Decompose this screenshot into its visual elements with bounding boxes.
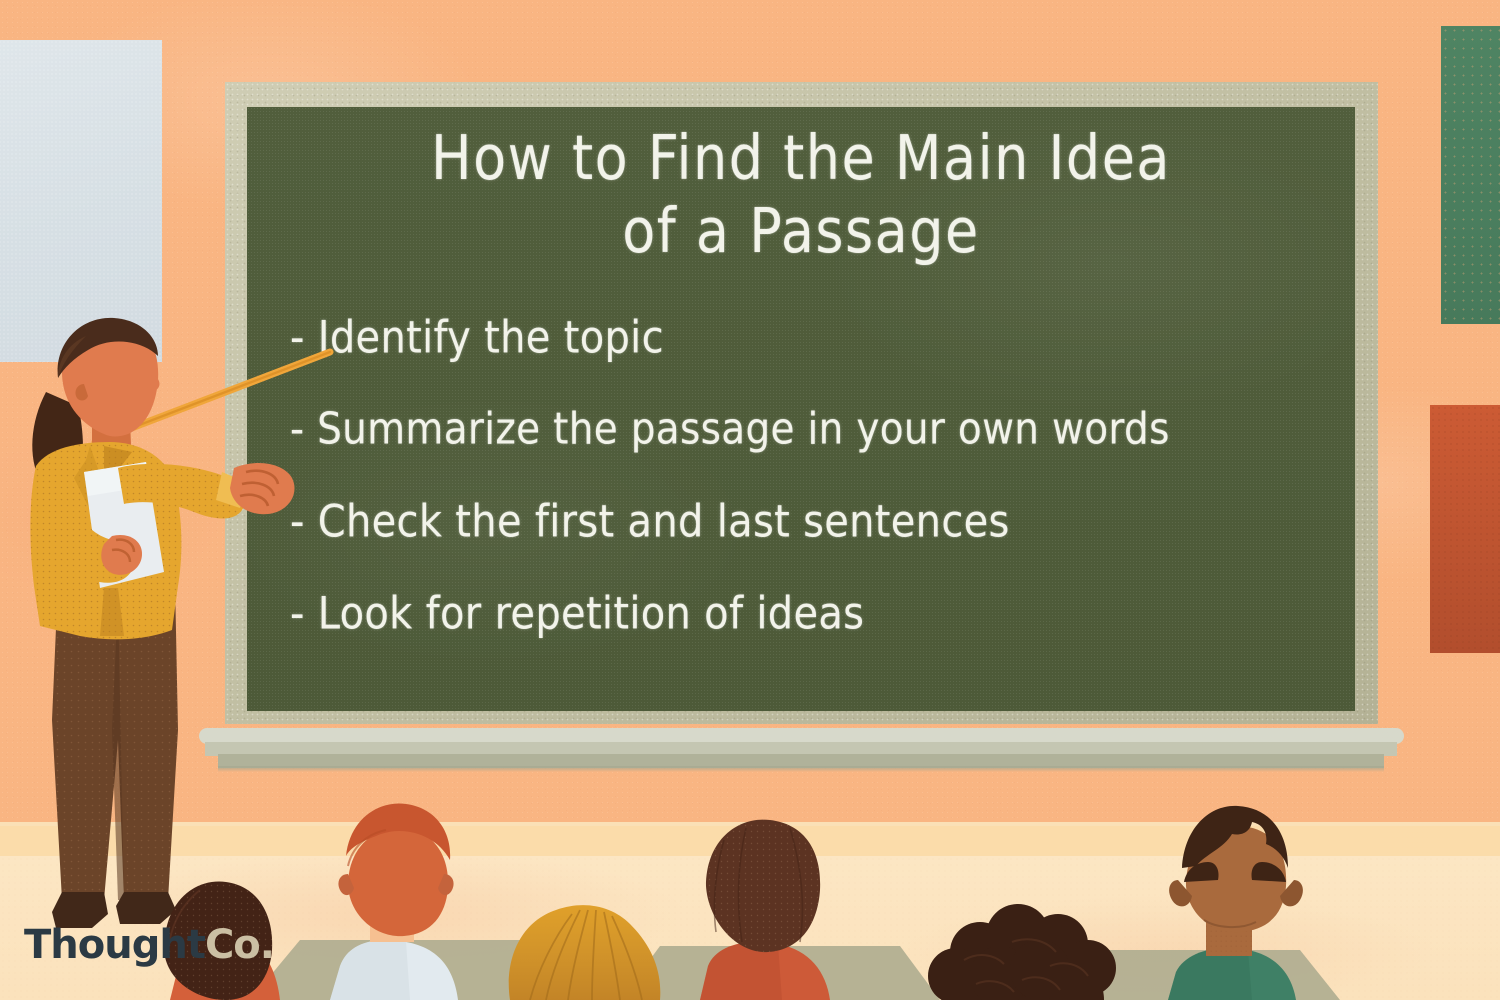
chalkboard-title: How to Find the Main Idea of a Passage (247, 122, 1355, 268)
chalkboard-bullet-list: - Identify the topic - Summarize the pas… (290, 316, 1360, 684)
logo-thought: Thought (24, 922, 205, 968)
chalkboard-title-line-1: How to Find the Main Idea (247, 122, 1355, 195)
chalkboard-bullet-2: - Summarize the passage in your own word… (290, 405, 1360, 454)
chalkboard-bullet-4: - Look for repetition of ideas (290, 589, 1360, 638)
student-5 (928, 904, 1116, 1000)
thoughtco-logo: ThoughtCo. (24, 922, 274, 968)
chalkboard-bullet-3: - Check the first and last sentences (290, 497, 1360, 546)
poster-green (1441, 26, 1500, 324)
student-6 (1168, 806, 1303, 1000)
chalkboard-title-line-2: of a Passage (247, 195, 1355, 268)
chalkboard-bullet-1: - Identify the topic (290, 313, 1360, 362)
poster-red (1430, 405, 1500, 653)
classroom-illustration: How to Find the Main Idea of a Passage -… (0, 0, 1500, 1000)
student-3 (509, 905, 661, 1000)
student-2 (330, 803, 458, 1000)
student-4 (700, 820, 830, 1000)
logo-co: Co. (205, 922, 274, 968)
